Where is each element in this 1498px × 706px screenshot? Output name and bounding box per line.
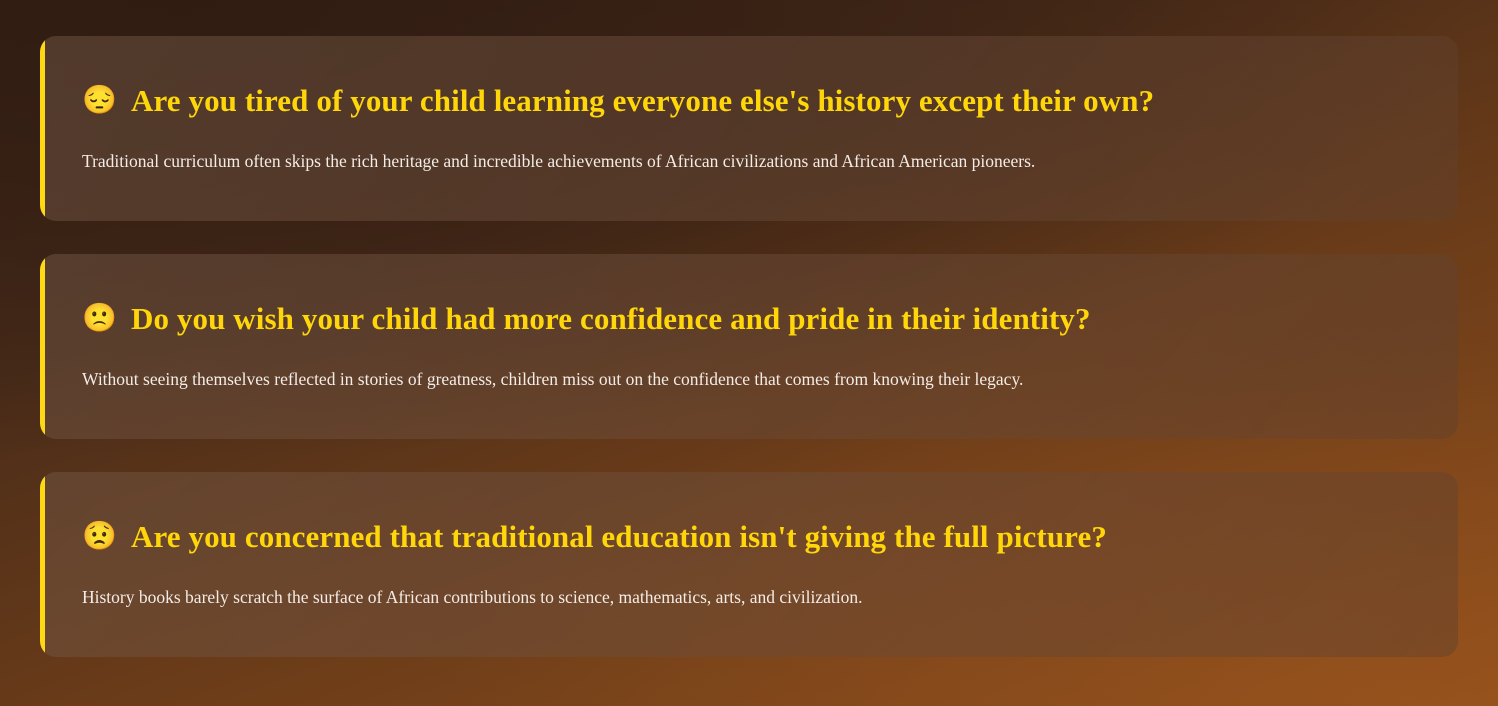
worried-face-emoji: 😟 [82, 523, 117, 551]
pain-point-heading-1: 😔 Are you tired of your child learning e… [82, 82, 1414, 119]
pain-point-body-1: Traditional curriculum often skips the r… [82, 149, 1414, 174]
pain-point-body-3: History books barely scratch the surface… [82, 585, 1414, 610]
pain-point-heading-text-2: Do you wish your child had more confiden… [131, 300, 1091, 337]
pensive-face-emoji: 😔 [82, 87, 117, 115]
pain-point-heading-2: 🙁 Do you wish your child had more confid… [82, 300, 1414, 337]
pain-point-heading-text-3: Are you concerned that traditional educa… [131, 518, 1107, 555]
pain-points-card-list: 😔 Are you tired of your child learning e… [40, 36, 1458, 657]
slightly-frowning-face-emoji: 🙁 [82, 305, 117, 333]
pain-point-card-3: 😟 Are you concerned that traditional edu… [40, 472, 1458, 657]
pain-point-heading-3: 😟 Are you concerned that traditional edu… [82, 518, 1414, 555]
pain-point-body-2: Without seeing themselves reflected in s… [82, 367, 1414, 392]
pain-point-card-2: 🙁 Do you wish your child had more confid… [40, 254, 1458, 439]
pain-point-card-1: 😔 Are you tired of your child learning e… [40, 36, 1458, 221]
pain-point-heading-text-1: Are you tired of your child learning eve… [131, 82, 1154, 119]
